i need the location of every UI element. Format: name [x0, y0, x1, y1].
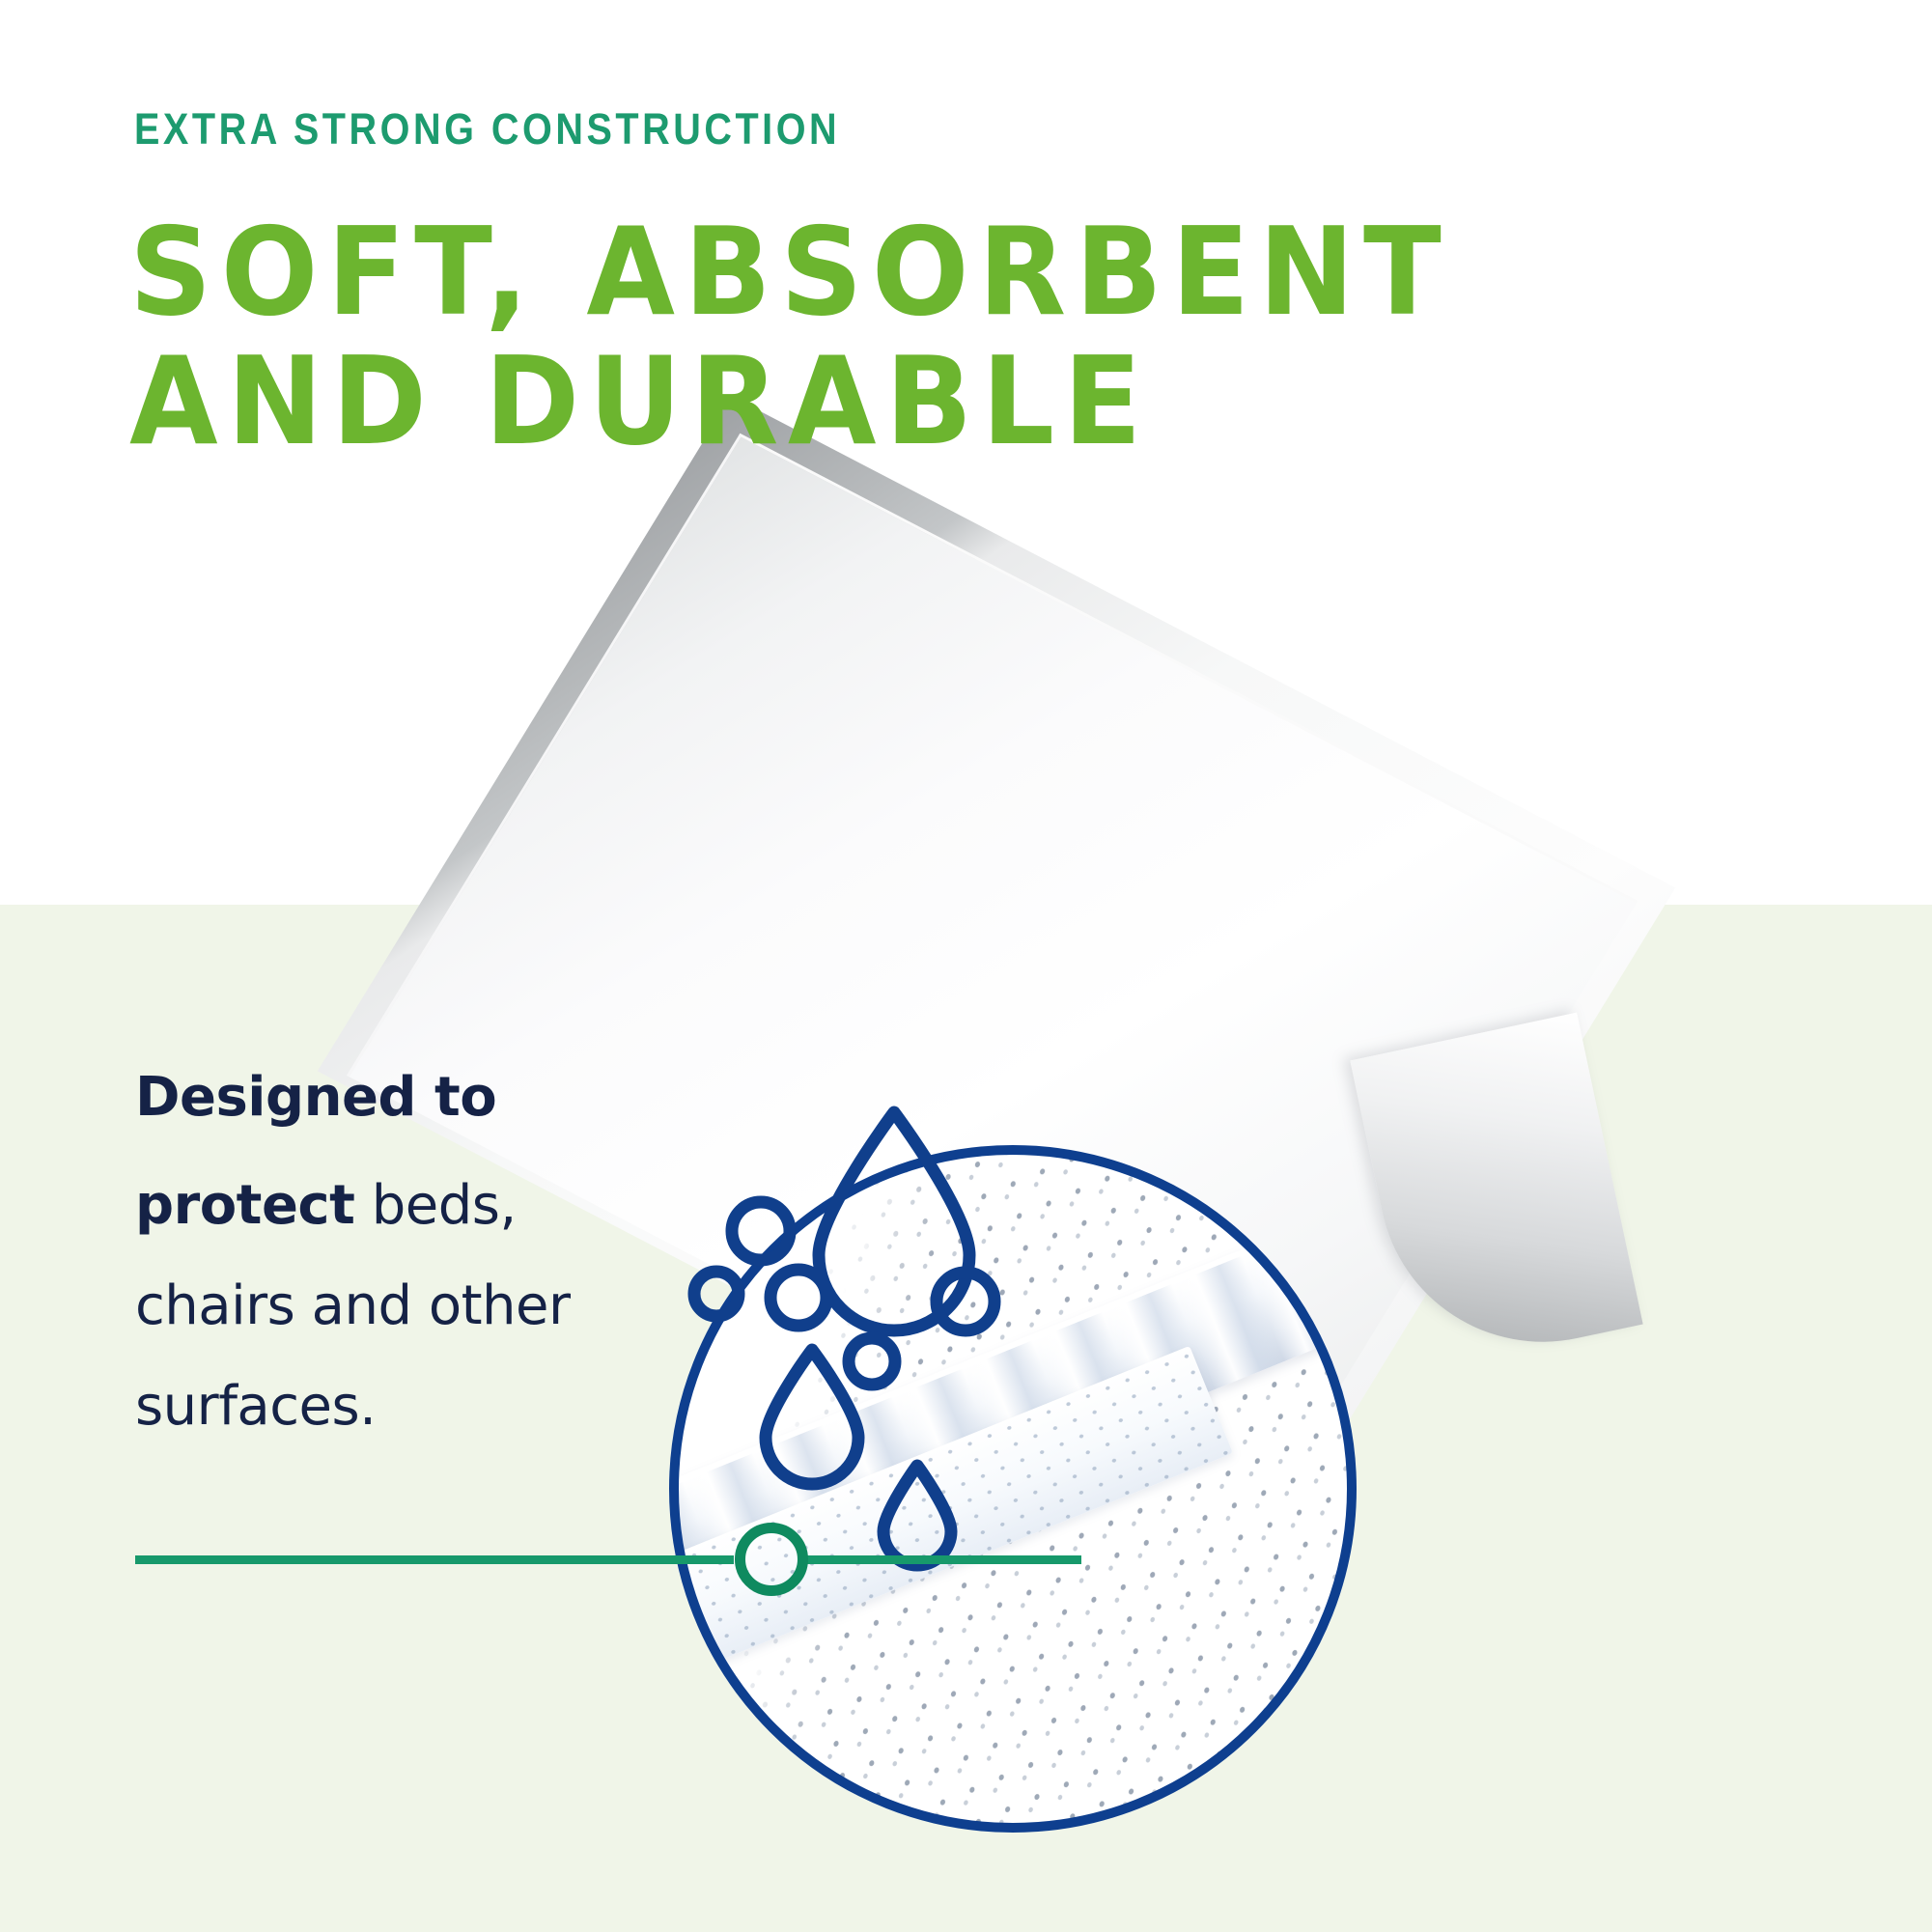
headline-line-2: AND DURABLE [129, 337, 1450, 466]
callout-emphasis-protect: protect [135, 1174, 354, 1237]
eyebrow-label: EXTRA STRONG CONSTRUCTION [134, 104, 840, 154]
callout-line-2-rest: beds, [354, 1174, 516, 1237]
product-feature-graphic: EXTRA STRONG CONSTRUCTION SOFT, ABSORBEN… [0, 0, 1932, 1932]
magnified-layer-detail [669, 1145, 1357, 1833]
callout-line-3: chairs and other [135, 1274, 571, 1337]
callout-line-4: surfaces. [135, 1375, 376, 1438]
callout-endpoint-ring [735, 1523, 808, 1596]
page-title: SOFT, ABSORBENTAND DURABLE [129, 208, 1450, 466]
callout-connector-line-right [801, 1555, 1081, 1564]
callout-line-1: Designed to [135, 1048, 657, 1148]
callout-paragraph: Designed to protect beds, chairs and oth… [135, 1048, 657, 1457]
callout-connector-line [135, 1555, 734, 1564]
headline-line-1: SOFT, ABSORBENT [129, 201, 1450, 343]
